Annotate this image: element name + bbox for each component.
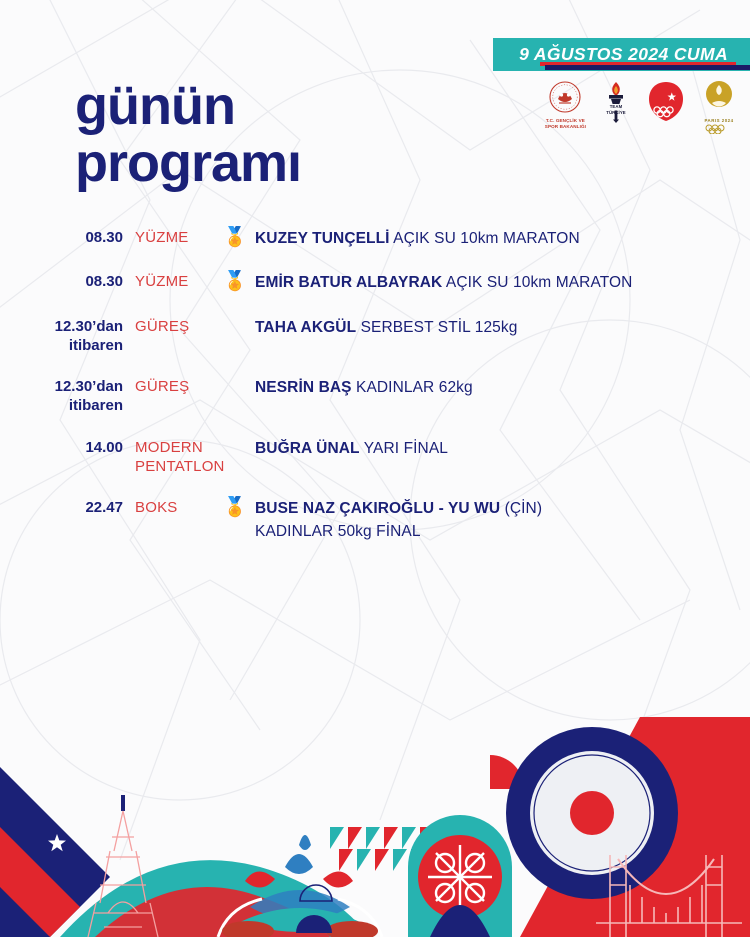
ministry-youth-sports-logo: T.C. GENÇLİK VE SPOR BAKANLIĞI bbox=[545, 80, 586, 130]
row-athlete: BUSE NAZ ÇAKIROĞLU - YU WU bbox=[255, 500, 500, 517]
row-time: 12.30’danitibaren bbox=[0, 377, 123, 416]
row-sport-line1: BOKS bbox=[135, 499, 177, 516]
archery-target bbox=[490, 727, 678, 899]
row-event: BUĞRA ÜNAL YARI FİNAL bbox=[255, 438, 750, 460]
teal-arch-medallion bbox=[408, 815, 512, 937]
row-event: NESRİN BAŞ KADINLAR 62kg bbox=[255, 377, 750, 399]
paris-2024-logo: PARIS 2024 bbox=[700, 80, 738, 134]
row-sport-line1: YÜZME bbox=[135, 273, 189, 290]
row-sport: BOKS bbox=[135, 498, 215, 518]
page-title-line1: günün bbox=[75, 76, 235, 136]
schedule-row: 14.00MODERNPENTATLONBUĞRA ÜNAL YARI FİNA… bbox=[0, 438, 750, 477]
row-athlete: KUZEY TUNÇELLİ bbox=[255, 230, 390, 247]
row-sport: YÜZME bbox=[135, 272, 215, 292]
row-time: 08.30 bbox=[0, 272, 123, 292]
schedule-row: 12.30’danitibarenGÜREŞNESRİN BAŞ KADINLA… bbox=[0, 377, 750, 416]
row-time-line1: 12.30’dan bbox=[55, 318, 123, 335]
row-event: KUZEY TUNÇELLİ AÇIK SU 10km MARATON bbox=[255, 228, 750, 250]
row-sport-line2: PENTATLON bbox=[135, 458, 225, 475]
row-event-detail: AÇIK SU 10km MARATON bbox=[390, 230, 580, 247]
row-event: EMİR BATUR ALBAYRAK AÇIK SU 10km MARATON bbox=[255, 272, 750, 294]
turkish-olympic-committee-logo bbox=[646, 80, 686, 124]
row-sport-line1: MODERN bbox=[135, 439, 203, 456]
schedule-list: 08.30YÜZME🏅KUZEY TUNÇELLİ AÇIK SU 10km M… bbox=[0, 228, 750, 565]
row-time-line1: 08.30 bbox=[85, 229, 123, 246]
row-athlete: EMİR BATUR ALBAYRAK bbox=[255, 274, 442, 291]
row-time-line1: 14.00 bbox=[85, 439, 123, 456]
row-event-detail: YARI FİNAL bbox=[360, 440, 448, 457]
row-time: 08.30 bbox=[0, 228, 123, 248]
row-sport-line1: GÜREŞ bbox=[135, 378, 189, 395]
row-event-detail: SERBEST STİL 125kg bbox=[356, 319, 517, 336]
row-time: 12.30’danitibaren bbox=[0, 317, 123, 356]
banner-rule-navy bbox=[545, 65, 750, 70]
row-time-line2: itibaren bbox=[69, 397, 123, 414]
schedule-row: 08.30YÜZME🏅EMİR BATUR ALBAYRAK AÇIK SU 1… bbox=[0, 272, 750, 294]
row-time-line1: 08.30 bbox=[85, 273, 123, 290]
gold-medal-icon: 🏅 bbox=[215, 228, 255, 249]
page-title: günün programı bbox=[75, 78, 301, 191]
row-event-detail: KADINLAR 62kg bbox=[352, 379, 473, 396]
row-sport-line1: YÜZME bbox=[135, 229, 189, 246]
row-sport-line1: GÜREŞ bbox=[135, 318, 189, 335]
date-banner-wrap: 9 AĞUSTOS 2024 CUMA bbox=[493, 38, 750, 71]
logo-strip: T.C. GENÇLİK VE SPOR BAKANLIĞI TEAM TÜRK… bbox=[545, 80, 738, 134]
row-event-detail-line2: KADINLAR 50kg FİNAL bbox=[255, 521, 750, 543]
row-event-detail: AÇIK SU 10km MARATON bbox=[442, 274, 632, 291]
team-turkiye-torch-logo: TEAM TÜRKİYE bbox=[600, 80, 632, 116]
torch-logo-caption: TEAM TÜRKİYE bbox=[606, 104, 626, 116]
row-time-line1: 22.47 bbox=[85, 499, 123, 516]
row-athlete: BUĞRA ÜNAL bbox=[255, 440, 360, 457]
row-sport: GÜREŞ bbox=[135, 317, 215, 337]
turkish-flag-chevron bbox=[0, 717, 110, 937]
row-sport: YÜZME bbox=[135, 228, 215, 248]
ministry-logo-caption: T.C. GENÇLİK VE SPOR BAKANLIĞI bbox=[545, 118, 586, 130]
row-time-line2: itibaren bbox=[69, 337, 123, 354]
row-athlete: NESRİN BAŞ bbox=[255, 379, 352, 396]
gold-medal-icon: 🏅 bbox=[215, 272, 255, 293]
schedule-row: 22.47BOKS🏅BUSE NAZ ÇAKIROĞLU - YU WU (Çİ… bbox=[0, 498, 750, 543]
row-athlete: TAHA AKGÜL bbox=[255, 319, 356, 336]
row-sport: MODERNPENTATLON bbox=[135, 438, 215, 477]
row-event-detail: (ÇİN) bbox=[500, 500, 542, 517]
row-event: TAHA AKGÜL SERBEST STİL 125kg bbox=[255, 317, 750, 339]
gold-medal-icon: 🏅 bbox=[215, 498, 255, 519]
olympic-rings-icon bbox=[704, 124, 734, 134]
page-title-line2: programı bbox=[75, 135, 301, 192]
schedule-row: 08.30YÜZME🏅KUZEY TUNÇELLİ AÇIK SU 10km M… bbox=[0, 228, 750, 250]
row-event: BUSE NAZ ÇAKIROĞLU - YU WU (ÇİN)KADINLAR… bbox=[255, 498, 750, 543]
row-time-line1: 12.30’dan bbox=[55, 378, 123, 395]
row-time: 22.47 bbox=[0, 498, 123, 518]
row-sport: GÜREŞ bbox=[135, 377, 215, 397]
footer-decoration bbox=[0, 717, 750, 937]
row-time: 14.00 bbox=[0, 438, 123, 458]
schedule-row: 12.30’danitibarenGÜREŞTAHA AKGÜL SERBEST… bbox=[0, 317, 750, 356]
